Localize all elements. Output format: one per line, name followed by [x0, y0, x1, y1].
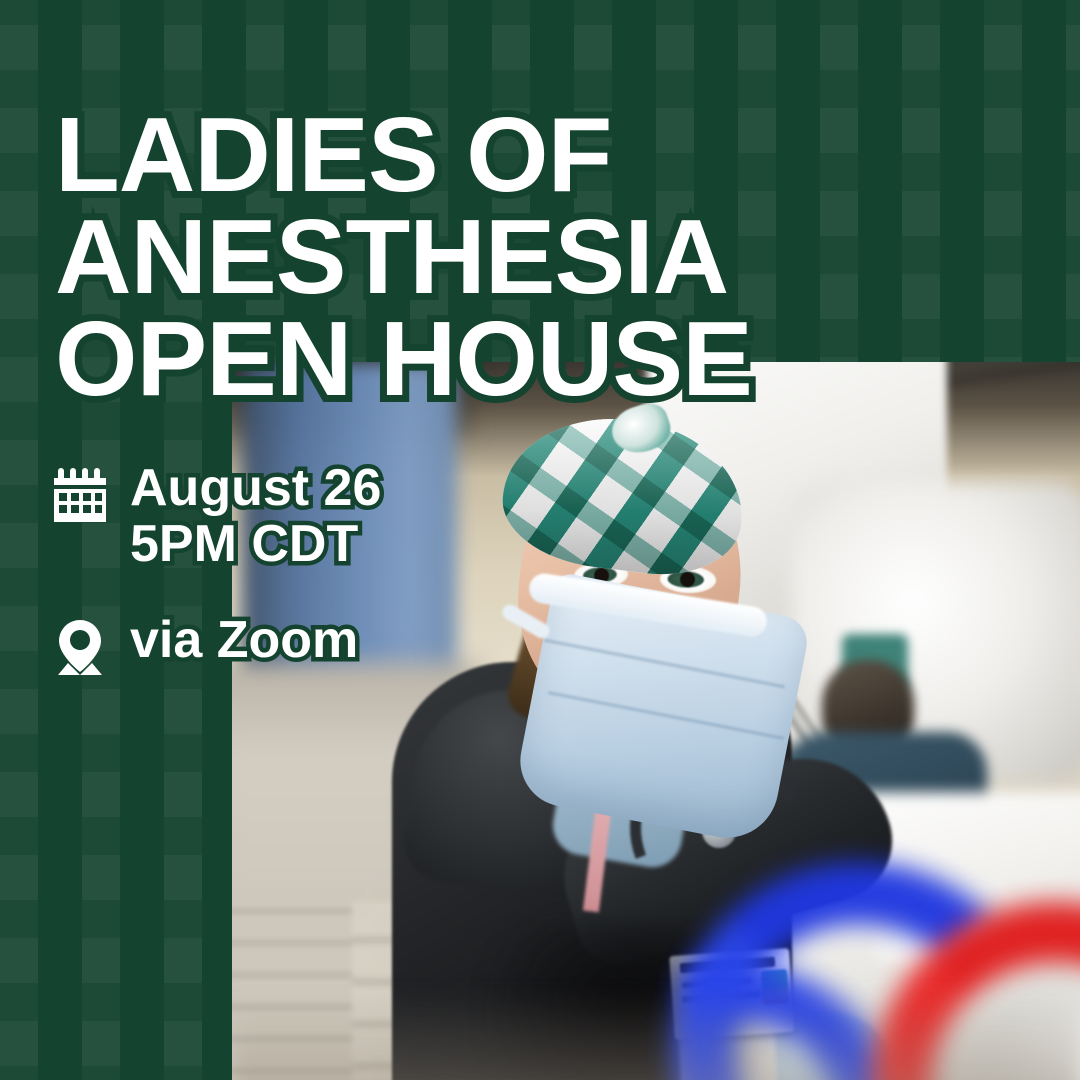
location-pin-icon: [52, 618, 108, 676]
poster-headline: Ladies of Anesthesia Open House: [55, 105, 1015, 410]
photo-bottom-blur: [232, 990, 1080, 1080]
headline-line-1: Ladies of: [55, 105, 1015, 207]
event-date-text: August 26 5PM CDT: [130, 460, 381, 572]
calendar-icon: [52, 466, 108, 524]
event-details: August 26 5PM CDT via Zoom: [52, 460, 512, 676]
event-date-row: August 26 5PM CDT: [52, 460, 512, 572]
event-location-text: via Zoom: [130, 612, 358, 668]
event-poster: Ladies of Anesthesia Open House: [0, 0, 1080, 1080]
headline-line-2: Anesthesia: [55, 207, 1015, 309]
event-location-row: via Zoom: [52, 612, 512, 676]
headline-line-3: Open House: [55, 309, 1015, 411]
